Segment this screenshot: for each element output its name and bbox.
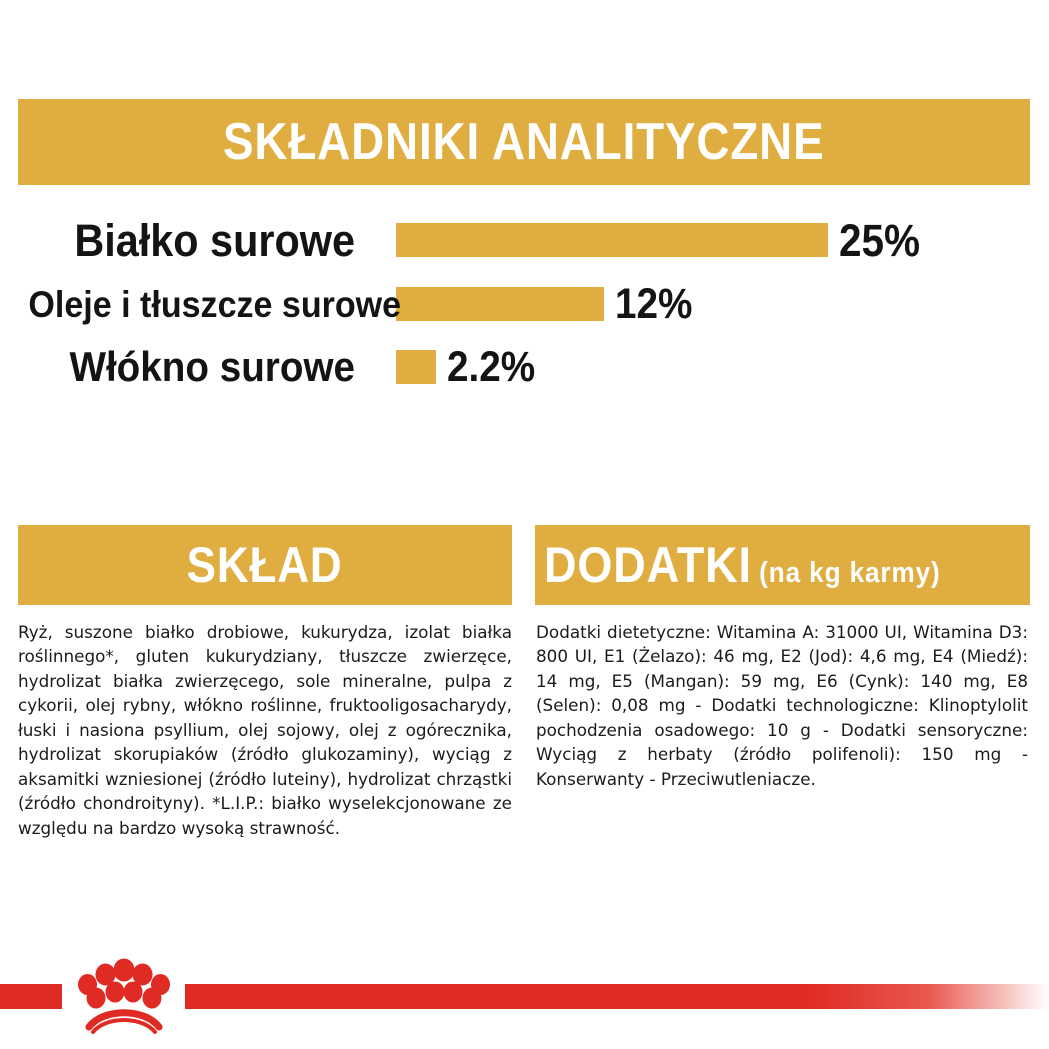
composition-banner: SKŁAD <box>18 525 512 605</box>
composition-title: SKŁAD <box>187 540 343 590</box>
composition-body-text: Ryż, suszone białko drobiowe, kukurydza,… <box>18 620 512 840</box>
chart-bar-group-fat: 12% <box>396 283 701 326</box>
chart-bar-group-fibre: 2.2% <box>396 346 545 389</box>
chart-row-label-fibre: Włókno surowe <box>28 346 355 388</box>
additives-banner: DODATKI (na kg karmy) <box>535 525 1030 605</box>
additives-title-main: DODATKI <box>544 540 752 590</box>
analytical-constituents-banner: SKŁADNIKI ANALITYCZNE <box>18 99 1030 185</box>
chart-row-label-protein: Białko surowe <box>28 218 355 263</box>
analytical-constituents-chart: Białko surowe 25% Oleje i tłuszcze surow… <box>0 206 1049 396</box>
footer-band-right <box>185 984 1049 1009</box>
additives-title: DODATKI (na kg karmy) <box>544 540 941 590</box>
analytical-constituents-title: SKŁADNIKI ANALITYCZNE <box>223 116 824 168</box>
chart-bar-fibre <box>396 350 436 384</box>
footer-band-left <box>0 984 62 1009</box>
additives-title-subtitle: (na kg karmy) <box>759 559 940 588</box>
royal-canin-crown-icon <box>63 954 185 1034</box>
chart-row: Włókno surowe 2.2% <box>0 341 1049 393</box>
chart-bar-fat <box>396 287 604 321</box>
chart-value-protein: 25% <box>839 218 920 263</box>
chart-row: Białko surowe 25% <box>0 212 1049 268</box>
additives-body-text: Dodatki dietetyczne: Witamina A: 31000 U… <box>536 620 1028 791</box>
chart-bar-group-protein: 25% <box>396 218 929 263</box>
product-info-panel: SKŁADNIKI ANALITYCZNE Białko surowe 25% … <box>0 0 1049 1049</box>
chart-value-fat: 12% <box>615 283 692 326</box>
chart-value-fibre: 2.2% <box>447 346 535 389</box>
chart-bar-protein <box>396 223 828 257</box>
chart-row: Oleje i tłuszcze surowe 12% <box>0 278 1049 330</box>
footer-bar <box>0 978 1049 1018</box>
chart-row-label-fat: Oleje i tłuszcze surowe <box>28 286 355 323</box>
